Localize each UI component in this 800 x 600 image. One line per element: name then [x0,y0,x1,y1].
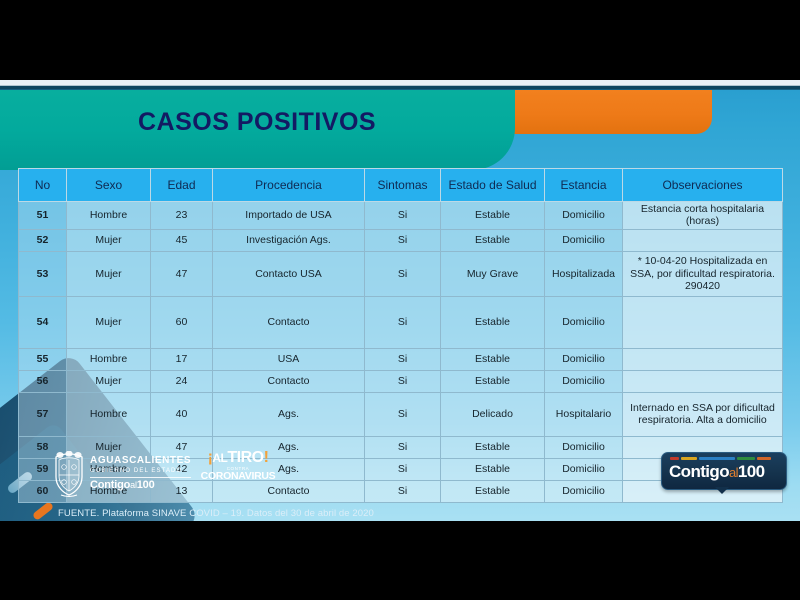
gob-100-number: 100 [137,479,155,491]
column-header-edad: Edad [151,169,213,202]
cell-estancia: Domicilio [545,348,623,370]
cell-procedencia: USA [213,348,365,370]
source-note: FUENTE. Plataforma SINAVE COVID – 19. Da… [58,508,374,519]
cell-edad: 60 [151,296,213,348]
cell-sintomas: Si [365,436,441,458]
cell-no: 56 [19,370,67,392]
contigo-bar-blue [699,457,735,460]
gob-contigo-word: Contigo [90,479,130,491]
cell-estancia: Domicilio [545,296,623,348]
table-row: 51Hombre23Importado de USASiEstableDomic… [19,202,783,230]
column-header-sexo: Sexo [67,169,151,202]
cell-estancia: Domicilio [545,202,623,230]
column-header-estancia: Estancia [545,169,623,202]
cell-sexo: Mujer [67,251,151,296]
cell-sintomas: Si [365,458,441,480]
cell-estado-de-salud: Muy Grave [441,251,545,296]
table-row: 56Mujer24ContactoSiEstableDomicilio [19,370,783,392]
presentation-slide: CASOS POSITIVOS No Sexo Edad Procedencia… [0,80,800,521]
contigo-bar-red [670,457,679,460]
cell-estado-de-salud: Estable [441,458,545,480]
cell-edad: 47 [151,251,213,296]
contigo-bubble: Contigoal100 [661,452,787,490]
cell-sexo: Hombre [67,348,151,370]
gob-line-contigo-al-100: Contigoal100 [90,480,191,492]
cell-sintomas: Si [365,370,441,392]
cell-estado-de-salud: Delicado [441,392,545,436]
contigo-color-bars [670,457,778,461]
table-row: 52Mujer45Investigación Ags.SiEstableDomi… [19,229,783,251]
cell-estancia: Hospitalizada [545,251,623,296]
cell-estancia: Domicilio [545,229,623,251]
page-title: CASOS POSITIVOS [138,108,376,137]
cell-estado-de-salud: Estable [441,202,545,230]
cell-estado-de-salud: Estable [441,296,545,348]
table-row: 53Mujer47Contacto USASiMuy GraveHospital… [19,251,783,296]
cell-no: 57 [19,392,67,436]
contigo-al-100-logo: Contigoal100 [661,452,785,494]
cell-sexo: Mujer [67,296,151,348]
aguascalientes-government-logo: AGUASCALIENTES GOBIERNO DEL ESTADO Conti… [52,448,192,500]
altiro-contra-coronavirus-logo: ¡ALTIRO! CONTRA CORONAVIRUS [200,450,276,483]
cell-procedencia: Contacto [213,480,365,502]
cell-edad: 45 [151,229,213,251]
cell-procedencia: Importado de USA [213,202,365,230]
altiro-coronavirus-word: CORONAVIRUS [200,471,276,483]
cell-no: 52 [19,229,67,251]
cell-procedencia: Contacto USA [213,251,365,296]
cell-observaciones: Estancia corta hospitalaria (horas) [623,202,783,230]
column-header-estado-de-salud: Estado de Salud [441,169,545,202]
cell-procedencia: Contacto [213,296,365,348]
cell-observaciones [623,370,783,392]
altiro-wordmark: ¡ALTIRO! [200,450,276,466]
contigo-bar-yellow [681,457,697,460]
cell-estado-de-salud: Estable [441,229,545,251]
cell-edad: 23 [151,202,213,230]
cell-no: 55 [19,348,67,370]
cell-observaciones [623,348,783,370]
cell-estado-de-salud: Estable [441,348,545,370]
cell-sexo: Hombre [67,202,151,230]
gob-line-gobierno-del-estado: GOBIERNO DEL ESTADO [90,468,191,474]
table-row: 54Mujer60ContactoSiEstableDomicilio [19,296,783,348]
contigo-bar-orange [757,457,771,460]
column-header-sintomas: Sintomas [365,169,441,202]
cell-estancia: Domicilio [545,370,623,392]
contigo-word: Contigo [669,462,729,481]
cell-sintomas: Si [365,480,441,502]
altiro-tiro: TIRO [227,449,263,466]
cell-observaciones: * 10-04-20 Hospitalizada en SSA, por dif… [623,251,783,296]
cell-sintomas: Si [365,348,441,370]
cell-estado-de-salud: Estable [441,436,545,458]
cell-observaciones [623,296,783,348]
government-logo-text: AGUASCALIENTES GOBIERNO DEL ESTADO Conti… [90,456,191,491]
cell-observaciones [623,229,783,251]
cell-observaciones: Internado en SSA por dificultad respirat… [623,392,783,436]
gob-line-aguascalientes: AGUASCALIENTES [90,456,191,467]
altiro-al: AL [212,451,227,465]
cell-estancia: Domicilio [545,436,623,458]
gob-al-word: al [130,480,137,490]
cell-sintomas: Si [365,251,441,296]
cell-edad: 40 [151,392,213,436]
cell-no: 51 [19,202,67,230]
altiro-bang-right: ! [264,449,269,466]
column-header-procedencia: Procedencia [213,169,365,202]
cell-estancia: Domicilio [545,480,623,502]
cell-sintomas: Si [365,296,441,348]
cell-procedencia: Ags. [213,392,365,436]
contigo-100-number: 100 [738,462,765,481]
cell-estado-de-salud: Estable [441,480,545,502]
cell-sexo: Mujer [67,370,151,392]
screenshot-stage: CASOS POSITIVOS No Sexo Edad Procedencia… [0,0,800,600]
cell-sintomas: Si [365,202,441,230]
cell-sexo: Hombre [67,392,151,436]
cell-sintomas: Si [365,229,441,251]
cell-estado-de-salud: Estable [441,370,545,392]
table-row: 57Hombre40Ags.SiDelicadoHospitalarioInte… [19,392,783,436]
contigo-bubble-tail [715,487,729,494]
cell-procedencia: Contacto [213,370,365,392]
cell-sexo: Mujer [67,229,151,251]
table-header-row: No Sexo Edad Procedencia Sintomas Estado… [19,169,783,202]
cell-no: 53 [19,251,67,296]
column-header-no: No [19,169,67,202]
cell-edad: 17 [151,348,213,370]
cell-sintomas: Si [365,392,441,436]
cell-no: 54 [19,296,67,348]
table-row: 55Hombre17USASiEstableDomicilio [19,348,783,370]
contigo-bar-green [737,457,755,460]
cell-procedencia: Investigación Ags. [213,229,365,251]
contigo-wordmark: Contigoal100 [669,462,765,482]
column-header-observaciones: Observaciones [623,169,783,202]
cell-edad: 24 [151,370,213,392]
coat-of-arms-icon [52,451,86,497]
cell-estancia: Hospitalario [545,392,623,436]
gob-divider [90,477,191,478]
contigo-al-word: al [729,465,738,480]
cell-estancia: Domicilio [545,458,623,480]
